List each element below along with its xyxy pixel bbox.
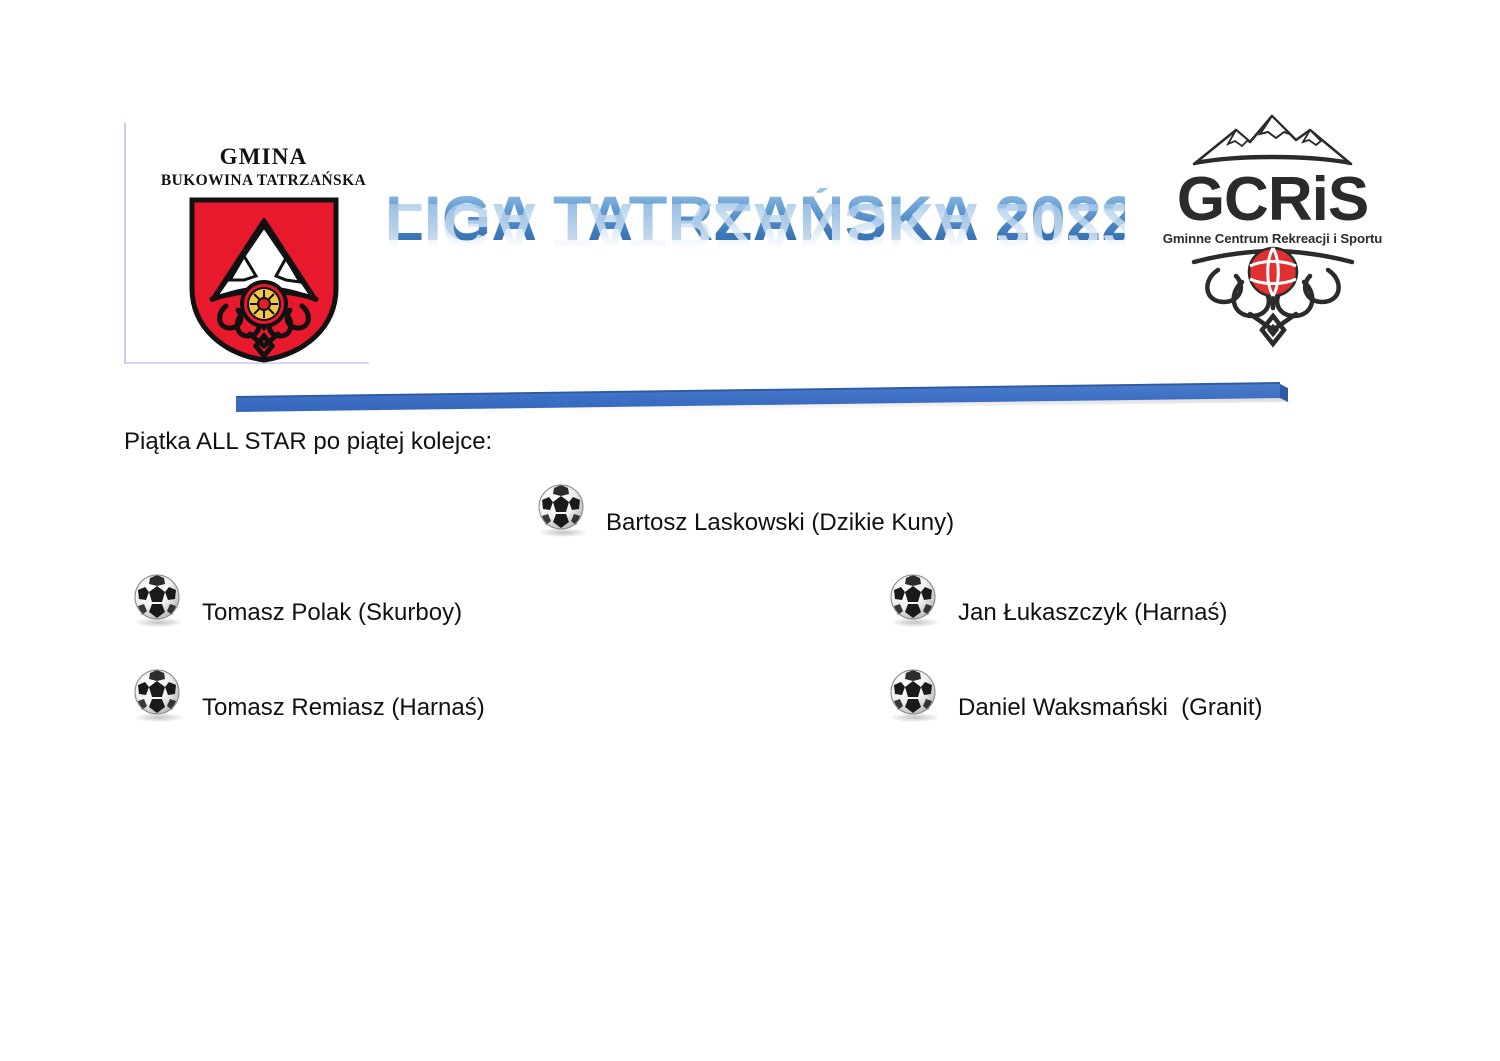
gcris-parzenica-icon — [1184, 246, 1362, 353]
soccer-ball-icon — [132, 668, 186, 722]
ball-shadow — [135, 713, 183, 722]
ball-shadow — [891, 618, 939, 627]
player-name: Jan Łukaszczyk (Harnaś) — [958, 599, 1227, 627]
intro-text: Piątka ALL STAR po piątej kolejce: — [124, 428, 492, 456]
player-name: Tomasz Polak (Skurboy) — [202, 599, 462, 627]
document-page: GMINA BUKOWINA TATRZAŃSKA — [0, 0, 1500, 1061]
ball-shadow — [891, 713, 939, 722]
ball-shadow — [539, 528, 587, 537]
main-title-block: LIGA TATRZAŃSKA 2022-23 LIGA TATRZAŃSKA … — [385, 188, 1125, 368]
player-entry-right-midfield: Jan Łukaszczyk (Harnaś) — [888, 573, 1227, 627]
gmina-logo-frame: GMINA BUKOWINA TATRZAŃSKA — [124, 123, 369, 364]
gcris-logo: GCRiS Gminne Centrum Rekreacji i Sportu — [1140, 112, 1405, 367]
player-name: Tomasz Remiasz (Harnaś) — [202, 694, 485, 722]
player-entry-left-defence: Tomasz Remiasz (Harnaś) — [132, 668, 485, 722]
soccer-ball-icon — [132, 573, 186, 627]
gcris-subtitle: Gminne Centrum Rekreacji i Sportu — [1163, 231, 1382, 246]
gmina-logo-name: GMINA — [220, 145, 308, 169]
soccer-ball-icon — [888, 573, 942, 627]
player-entry-right-defence: Daniel Waksmański (Granit) — [888, 668, 1263, 722]
gmina-logo: GMINA BUKOWINA TATRZAŃSKA — [156, 123, 371, 361]
player-entry-left-midfield: Tomasz Polak (Skurboy) — [132, 573, 462, 627]
ball-shadow — [135, 618, 183, 627]
blue-ribbon-divider — [232, 378, 1290, 414]
gmina-coat-of-arms-icon — [186, 196, 342, 369]
player-name: Bartosz Laskowski (Dzikie Kuny) — [606, 509, 954, 537]
document-header: GMINA BUKOWINA TATRZAŃSKA — [0, 0, 1500, 375]
gcris-acronym: GCRiS — [1177, 171, 1368, 230]
soccer-ball-icon — [536, 483, 590, 537]
main-title-reflection: LIGA TATRZAŃSKA 2022-23 — [385, 193, 1125, 256]
soccer-ball-icon — [888, 668, 942, 722]
player-entry-forward: Bartosz Laskowski (Dzikie Kuny) — [536, 483, 954, 537]
gmina-logo-municipality: BUKOWINA TATRZAŃSKA — [161, 172, 366, 190]
player-name: Daniel Waksmański (Granit) — [958, 694, 1263, 722]
